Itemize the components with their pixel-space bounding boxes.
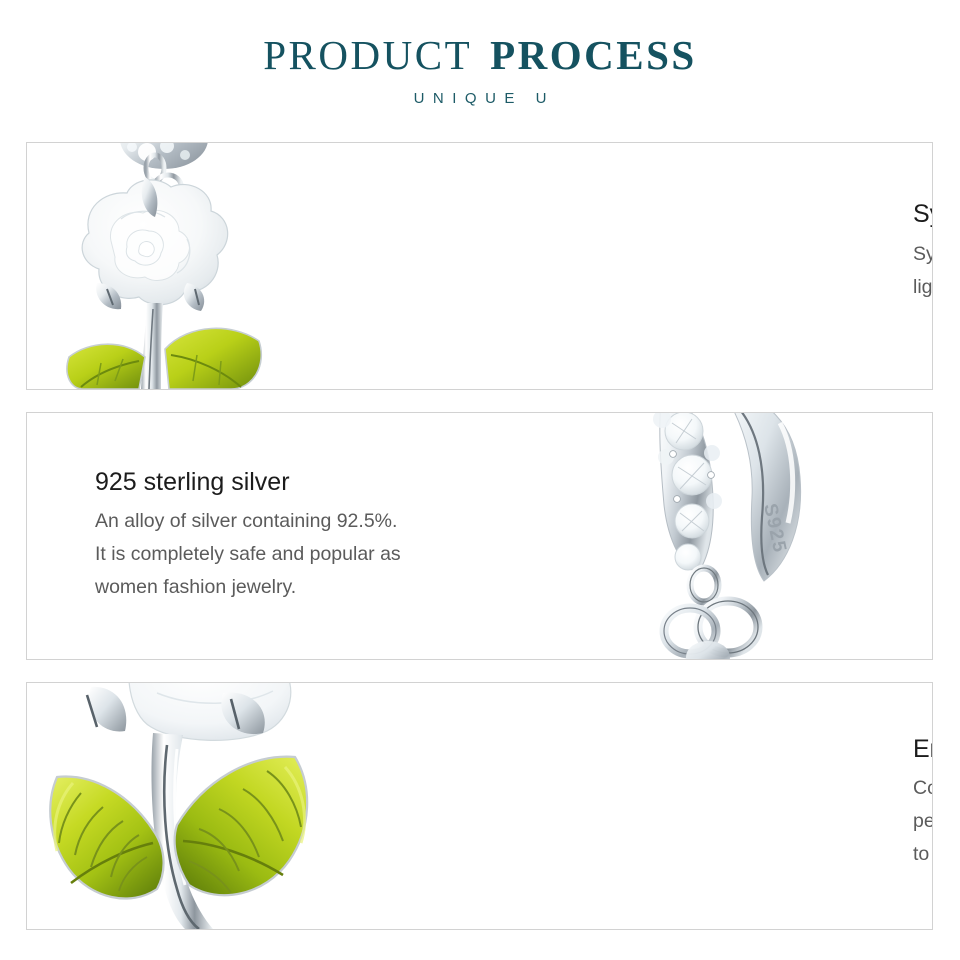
feature-heading: Synthetic Resin (913, 200, 933, 229)
feature-heading: Enamel process (913, 735, 933, 764)
feature-text-synthetic-resin: Synthetic Resin Synthetic resin material… (457, 143, 932, 389)
silver-arm-stamped: S925 (724, 413, 801, 581)
page-subtitle: UNIQUE U (0, 90, 960, 107)
page-title: PRODUCTPROCESS (0, 34, 960, 77)
feature-text-enamel-process: Enamel process Colorful and smooth ename… (457, 683, 932, 929)
product-image-enamel-leaves (27, 683, 457, 929)
pave-cz-channel (653, 413, 722, 573)
silver-bail-svg: S925 (512, 413, 932, 659)
feature-panel-list: Synthetic Resin Synthetic resin material… (0, 142, 960, 952)
enamel-leaves (67, 328, 261, 389)
page-header: PRODUCTPROCESS UNIQUE U (0, 0, 960, 107)
connector-rings (664, 568, 758, 659)
feature-panel-synthetic-resin: Synthetic Resin Synthetic resin material… (26, 142, 933, 390)
enamel-leaf-right (175, 757, 308, 896)
page-title-word-product: PRODUCT (263, 32, 472, 78)
feature-body: Synthetic resin material is light but no… (913, 238, 933, 304)
enamel-leaf-left (50, 777, 163, 899)
feature-panel-sterling-silver: 925 sterling silver An alloy of silver c… (26, 412, 933, 660)
page-title-word-process: PROCESS (490, 32, 697, 78)
feature-body-line: It is completely safe and popular as (95, 538, 401, 571)
feature-body-line: An alloy of silver containing 92.5%. (95, 505, 401, 538)
feature-body-line: Synthetic resin material is (913, 238, 933, 271)
enamel-leaves-svg (27, 683, 457, 929)
feature-body-line: Colorful and smooth enamel bring (913, 772, 933, 805)
silver-stem (141, 303, 163, 389)
feature-panel-enamel-process: Enamel process Colorful and smooth ename… (26, 682, 933, 930)
feature-text-sterling-silver: 925 sterling silver An alloy of silver c… (27, 413, 512, 659)
feature-body-line: personality and special charm (913, 805, 933, 838)
product-image-silver-bail: S925 (512, 413, 932, 659)
product-image-resin-rose (27, 143, 457, 389)
resin-rose-svg (27, 143, 457, 389)
resin-rose-bottom (129, 683, 291, 740)
feature-body-line: women fashion jewelry. (95, 571, 401, 604)
feature-body: Colorful and smooth enamel bring persona… (913, 772, 933, 871)
feature-body-line: light but not easy to deform. (913, 271, 933, 304)
resin-rose-artwork (27, 143, 457, 389)
enamel-leaves-artwork (27, 683, 457, 929)
silver-bail-artwork: S925 (512, 413, 932, 659)
feature-body: An alloy of silver containing 92.5%. It … (95, 505, 401, 604)
feature-heading: 925 sterling silver (95, 468, 290, 497)
feature-body-line: to the jewelry. (913, 838, 933, 871)
